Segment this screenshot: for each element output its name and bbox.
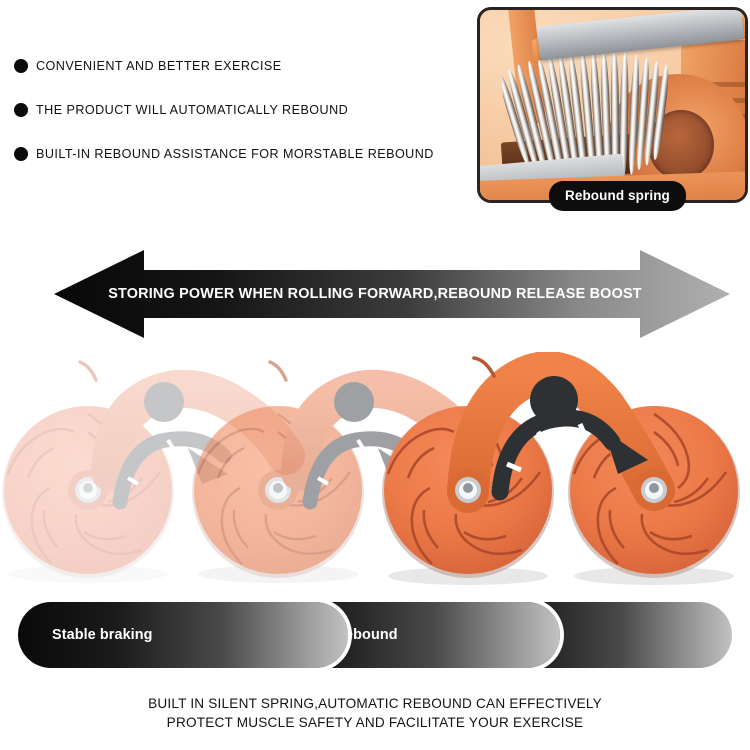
wheel-motion-sequence <box>0 352 750 592</box>
feature-bullet-list: CONVENIENT AND BETTER EXERCISE THE PRODU… <box>0 44 470 176</box>
bullet-dot-icon <box>14 147 28 161</box>
bullet-label: BUILT-IN REBOUND ASSISTANCE FOR MORSTABL… <box>36 147 434 161</box>
footer-caption-line-1: BUILT IN SILENT SPRING,AUTOMATIC REBOUND… <box>0 694 750 713</box>
feature-pill-label: Stable braking <box>52 627 153 643</box>
list-item: THE PRODUCT WILL AUTOMATICALLY REBOUND <box>0 88 470 132</box>
bullet-dot-icon <box>14 59 28 73</box>
feature-pill-stable-braking: Stable braking <box>18 602 348 668</box>
list-item: BUILT-IN REBOUND ASSISTANCE FOR MORSTABL… <box>0 132 470 176</box>
wheel-stage-solid <box>372 352 750 592</box>
bullet-dot-icon <box>14 103 28 117</box>
feature-pill-group: Stable braking Automatic rebound Easy re… <box>18 602 732 668</box>
list-item: CONVENIENT AND BETTER EXERCISE <box>0 44 470 88</box>
ab-roller-illustration <box>372 352 750 592</box>
photo-illustration <box>480 10 745 200</box>
footer-caption-line-2: PROTECT MUSCLE SAFETY AND FACILITATE YOU… <box>0 713 750 732</box>
product-photo-rebound-spring <box>477 7 748 203</box>
bullet-label: CONVENIENT AND BETTER EXERCISE <box>36 59 282 73</box>
power-flow-arrow: STORING POWER WHEN ROLLING FORWARD,REBOU… <box>54 250 730 338</box>
footer-caption: BUILT IN SILENT SPRING,AUTOMATIC REBOUND… <box>0 694 750 732</box>
double-arrow-icon <box>54 250 730 338</box>
status-badge-rebound-spring: Rebound spring <box>549 181 686 211</box>
bullet-label: THE PRODUCT WILL AUTOMATICALLY REBOUND <box>36 103 348 117</box>
